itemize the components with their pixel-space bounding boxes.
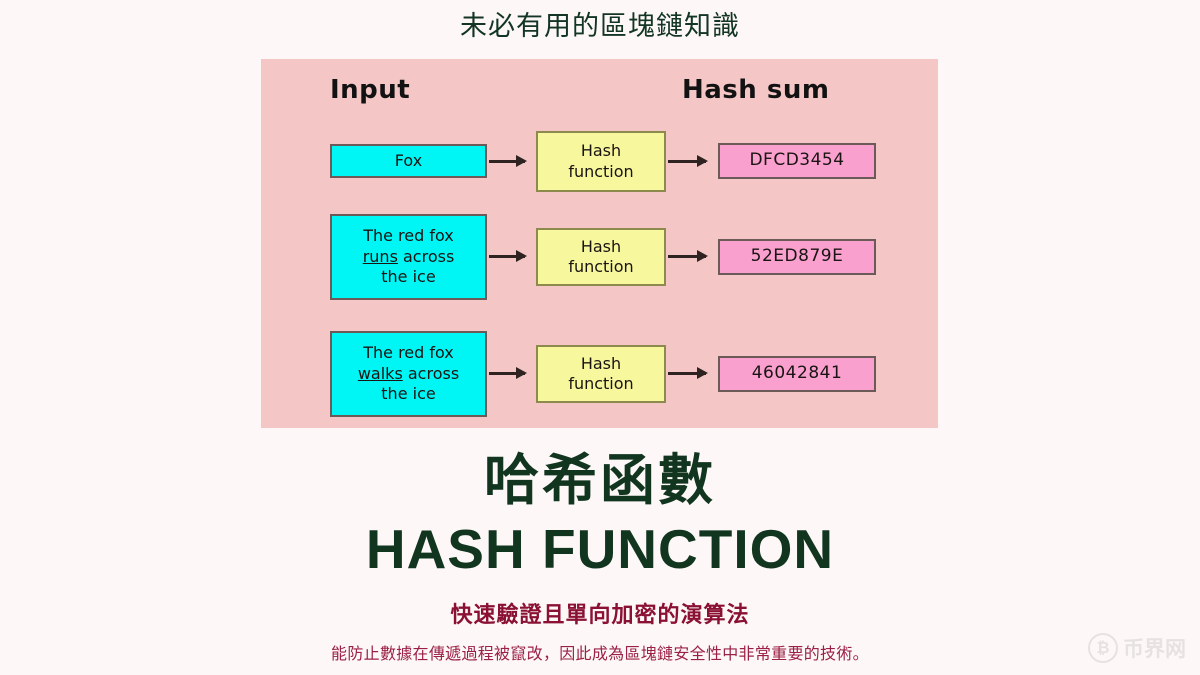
watermark-text: 币界网 [1123, 633, 1186, 663]
hash-function-diagram: Input Hash sum Fox Hashfunction DFCD3454… [261, 59, 938, 428]
arrow-input-to-function-icon [489, 255, 525, 258]
input-box: Fox [330, 144, 487, 178]
column-header-input: Input [330, 75, 410, 105]
diagram-row: The red fox runs across the ice Hashfunc… [261, 212, 938, 302]
hash-output-text: 52ED879E [751, 246, 844, 268]
arrow-function-to-output-icon [668, 255, 706, 258]
headline-english: HASH FUNCTION [0, 516, 1200, 582]
hash-function-box: Hashfunction [536, 345, 666, 403]
arrow-function-to-output-icon [668, 372, 706, 375]
watermark: ₿ 币界网 [1088, 633, 1186, 663]
arrow-input-to-function-icon [489, 160, 525, 163]
hash-function-box-text: Hashfunction [568, 354, 633, 395]
hash-output-box: 52ED879E [718, 239, 876, 275]
diagram-row: Fox Hashfunction DFCD3454 [261, 131, 938, 199]
hash-output-box: 46042841 [718, 356, 876, 392]
input-box-text: The red fox walks across the ice [358, 343, 459, 404]
input-box-text: The red fox runs across the ice [363, 226, 455, 287]
subtitle: 快速驗證且單向加密的演算法 [0, 600, 1200, 630]
headline-chinese: 哈希函數 [0, 447, 1200, 513]
hash-output-text: DFCD3454 [749, 150, 844, 172]
arrow-input-to-function-icon [489, 372, 525, 375]
input-box-text: Fox [395, 151, 422, 171]
hash-output-box: DFCD3454 [718, 143, 876, 179]
diagram-row: The red fox walks across the ice Hashfun… [261, 329, 938, 419]
hash-function-box-text: Hashfunction [568, 141, 633, 182]
input-box: The red fox runs across the ice [330, 214, 487, 300]
hash-function-box: Hashfunction [536, 228, 666, 286]
caption: 能防止數據在傳遞過程被竄改，因此成為區塊鏈安全性中非常重要的技術。 [0, 643, 1200, 667]
hash-function-box-text: Hashfunction [568, 237, 633, 278]
arrow-function-to-output-icon [668, 160, 706, 163]
hash-function-box: Hashfunction [536, 131, 666, 192]
column-header-hash-sum: Hash sum [682, 75, 829, 105]
bitcoin-circle-icon: ₿ [1088, 633, 1118, 663]
input-box: The red fox walks across the ice [330, 331, 487, 417]
hash-output-text: 46042841 [752, 363, 843, 385]
page-title: 未必有用的區塊鏈知識 [0, 8, 1200, 44]
